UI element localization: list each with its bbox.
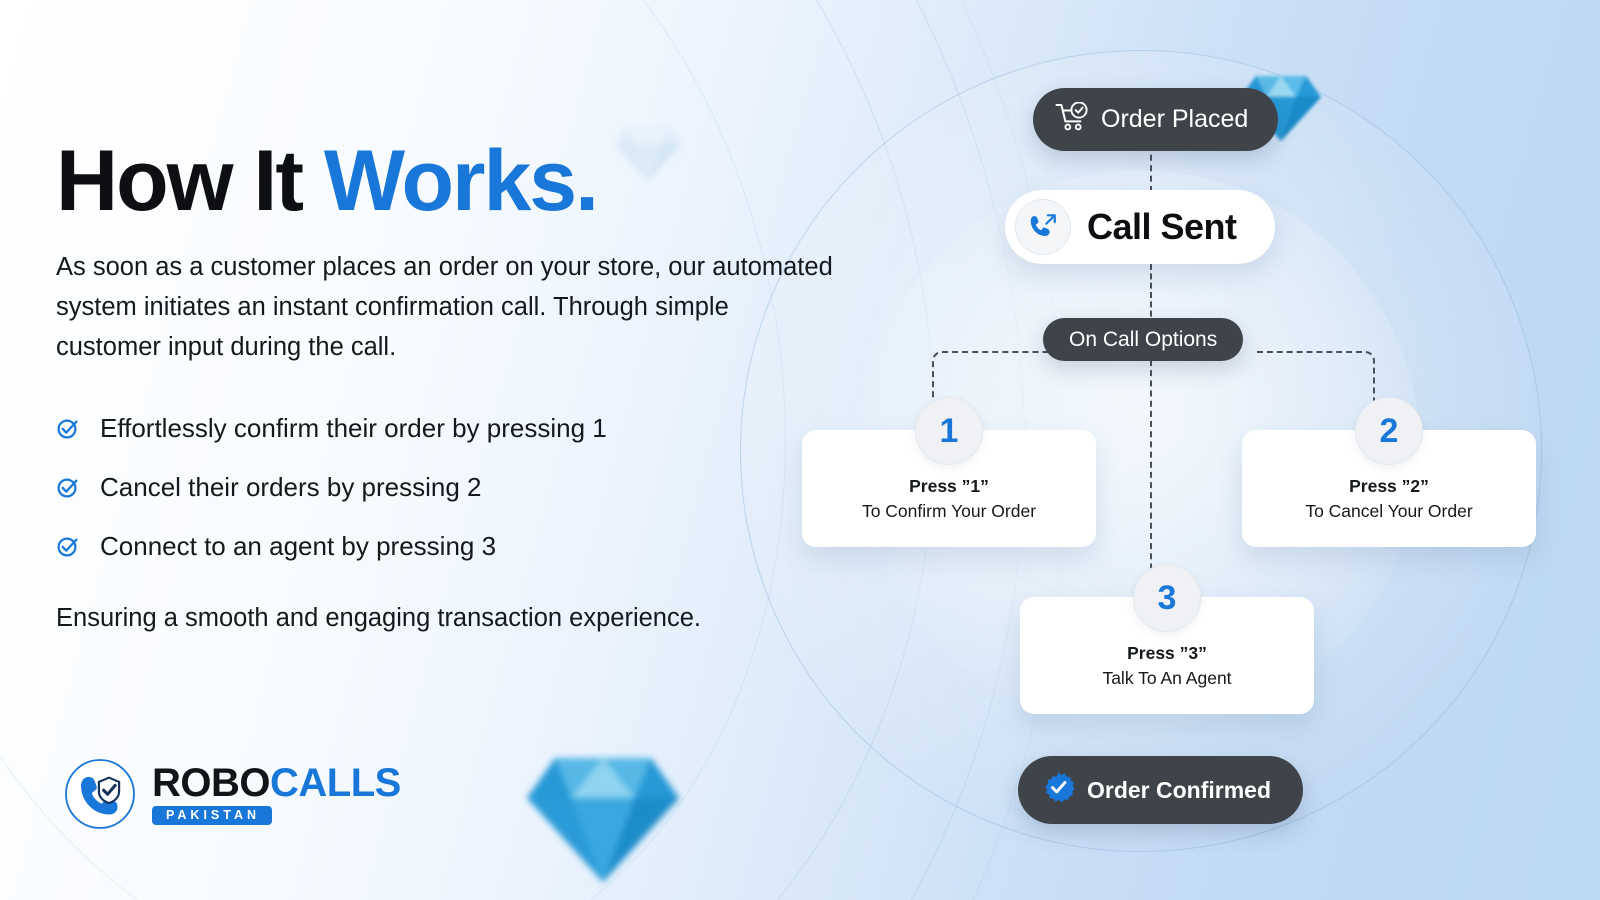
process-flow-diagram: Order Placed Call Sent On Call Options 1…	[760, 0, 1600, 900]
option-card-3-line1: Press ”3”	[1034, 641, 1300, 666]
page-title-plain: How It	[56, 133, 324, 229]
node-on-call-options-label: On Call Options	[1069, 329, 1217, 350]
list-item-label: Cancel their orders by pressing 2	[100, 474, 482, 500]
option-number-badge: 3	[1133, 564, 1201, 632]
outgoing-call-icon	[1015, 199, 1071, 255]
list-item: Effortlessly confirm their order by pres…	[56, 398, 816, 457]
connector-call-sent-to-options	[1150, 264, 1152, 326]
option-card-3[interactable]: 3 Press ”3” Talk To An Agent	[1020, 597, 1314, 714]
logo-word-calls: CALLS	[270, 761, 401, 805]
node-call-sent[interactable]: Call Sent	[1005, 190, 1275, 264]
list-item-label: Effortlessly confirm their order by pres…	[100, 415, 607, 441]
brand-logo: ROBOCALLS PAKISTAN	[64, 758, 401, 830]
logo-wordmark: ROBOCALLS PAKISTAN	[152, 763, 401, 826]
closing-paragraph: Ensuring a smooth and engaging transacti…	[56, 598, 756, 639]
option-number-badge: 2	[1355, 397, 1423, 465]
option-card-2[interactable]: 2 Press ”2” To Cancel Your Order	[1242, 430, 1536, 547]
verified-check-badge-icon	[1042, 771, 1075, 809]
logo-word-robo: ROBO	[152, 761, 270, 805]
option-card-3-line2: Talk To An Agent	[1034, 666, 1300, 691]
list-item-label: Connect to an agent by pressing 3	[100, 533, 496, 559]
phone-shield-check-icon	[64, 758, 136, 830]
infographic-canvas: How It Works. As soon as a customer plac…	[0, 0, 1600, 900]
option-number-badge: 1	[915, 397, 983, 465]
intro-paragraph: As soon as a customer places an order on…	[56, 247, 836, 367]
list-item: Connect to an agent by pressing 3	[56, 516, 816, 575]
node-order-confirmed-label: Order Confirmed	[1087, 779, 1271, 802]
option-card-2-line1: Press ”2”	[1256, 474, 1522, 499]
feature-bullet-list: Effortlessly confirm their order by pres…	[56, 398, 816, 575]
node-order-confirmed[interactable]: Order Confirmed	[1018, 756, 1303, 824]
option-card-1[interactable]: 1 Press ”1” To Confirm Your Order	[802, 430, 1096, 547]
option-card-1-line2: To Confirm Your Order	[816, 499, 1082, 524]
list-item: Cancel their orders by pressing 2	[56, 457, 816, 516]
logo-tagline: PAKISTAN	[152, 806, 272, 826]
check-circle-icon	[56, 475, 80, 499]
node-call-sent-label: Call Sent	[1087, 209, 1237, 245]
check-circle-icon	[56, 416, 80, 440]
option-card-2-line2: To Cancel Your Order	[1256, 499, 1522, 524]
option-card-1-line1: Press ”1”	[816, 474, 1082, 499]
node-on-call-options[interactable]: On Call Options	[1043, 318, 1243, 361]
node-order-placed-label: Order Placed	[1101, 107, 1248, 132]
cart-check-icon	[1055, 102, 1089, 137]
check-circle-icon	[56, 534, 80, 558]
logo-word: ROBOCALLS	[152, 763, 401, 803]
page-title-accent: Works.	[324, 133, 597, 229]
connector-options-to-option-3	[1150, 360, 1152, 600]
node-order-placed[interactable]: Order Placed	[1033, 88, 1278, 151]
page-title: How It Works.	[56, 138, 597, 224]
